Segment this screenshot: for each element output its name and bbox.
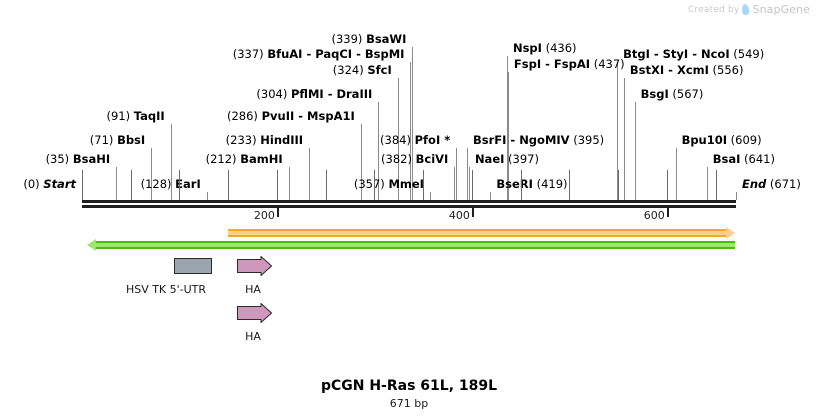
feature-arrow-green-arrow[interactable] [87,241,735,249]
enzyme-position: (337) [233,47,268,61]
ruler-minor-tick [374,170,375,200]
enzyme-position: (128) [141,177,176,191]
snapgene-credit: Created by SnapGene [688,3,810,16]
enzyme-position: (556) [709,63,744,77]
enzyme-name: MspA1I [307,109,355,123]
enzyme-label-bbsi[interactable]: (71) BbsI [90,134,145,147]
enzyme-name: MmeI [388,177,424,191]
enzyme-label-taqii[interactable]: (91) TaqII [107,110,165,123]
pentagon-arrow-icon [237,256,272,276]
enzyme-label-hindiii[interactable]: (233) HindIII [226,134,303,147]
arrow-head [726,227,735,239]
enzyme-position: (641) [740,152,775,166]
enzyme-name: HindIII [260,133,303,147]
enzyme-label-bstxi-xcmi[interactable]: BstXI - XcmI (556) [630,64,744,77]
ruler-minor-tick [423,170,424,200]
enzyme-name: BciVI [416,152,449,166]
ruler-minor-tick [326,170,327,200]
enzyme-leader-line [624,78,625,200]
pentagon-arrow-icon [237,303,272,323]
enzyme-name: Bpu10I [682,133,727,147]
enzyme-name-separator: - [302,47,315,61]
feature-label: HA [245,283,261,296]
enzyme-name: BsgI [641,87,669,101]
enzyme-leader-line [490,192,491,200]
ruler-tick-label: 400 [449,209,470,222]
enzyme-name: Start [43,177,76,191]
ruler-minor-tick [618,170,619,200]
enzyme-name: BsaHI [73,152,110,166]
enzyme-label-btgi-styi-ncoi[interactable]: BtgI - StyI - NcoI (549) [623,48,764,61]
enzyme-label-nspi[interactable]: NspI (436) [513,42,577,55]
ruler-major-tick [667,208,669,217]
enzyme-position: (233) [226,133,261,147]
enzyme-leader-line [707,167,708,200]
ruler-minor-tick [82,170,83,200]
enzyme-name: PvuII [262,109,295,123]
enzyme-position: (549) [730,47,765,61]
enzyme-position: (35) [46,152,73,166]
enzyme-name: TaqII [134,109,165,123]
enzyme-leader-line [467,148,468,200]
enzyme-name: FspAI [554,57,590,71]
enzyme-label-bsahi[interactable]: (35) BsaHI [46,153,111,166]
enzyme-name: BspMI [365,47,405,61]
enzyme-label-bamhi[interactable]: (212) BamHI [206,153,283,166]
enzyme-position: (609) [727,133,762,147]
ruler-minor-tick [716,170,717,200]
enzyme-name: NcoI [701,47,730,61]
enzyme-name-separator: - [650,47,663,61]
ruler-minor-tick [521,170,522,200]
enzyme-name: FspI [514,57,541,71]
enzyme-label-pflmi-draiii[interactable]: (304) PflMI - DraIII [256,88,372,101]
enzyme-label-bsai[interactable]: BsaI (641) [713,153,775,166]
arrow-shaft [96,241,735,249]
enzyme-position: (567) [669,87,704,101]
enzyme-label-start[interactable]: (0) Start [23,178,76,191]
enzyme-label-bseri[interactable]: BseRI (419) [496,178,567,191]
ruler-tick-label: 600 [644,209,665,222]
enzyme-label-pvuii-mspa1i[interactable]: (286) PvuII - MspA1I [227,110,355,123]
enzyme-label-bsawi[interactable]: (339) BsaWI [331,33,406,46]
ruler-minor-tick [569,170,570,200]
enzyme-position: (0) [23,177,43,191]
enzyme-name: PflMI [291,87,324,101]
credit-prefix-label: Created by [688,5,740,15]
enzyme-leader-line [151,148,152,200]
enzyme-label-sfci[interactable]: (324) SfcI [333,64,392,77]
arrow-shaft [228,229,726,237]
enzyme-leader-line [469,167,470,200]
ruler-bar-bottom [82,205,736,208]
enzyme-position: (304) [256,87,291,101]
feature-arrow-orange-arrow[interactable] [228,229,735,237]
enzyme-name: PaqCI [315,47,352,61]
enzyme-label-bpu10i[interactable]: Bpu10I (609) [682,134,762,147]
enzyme-label-eari[interactable]: (128) EarI [141,178,201,191]
plasmid-map-canvas: Created by SnapGene (0) Start(35) BsaHI(… [0,0,818,419]
feature-arrow-ha[interactable] [237,256,272,276]
ruler-bar-top [82,200,736,203]
enzyme-label-bcivi[interactable]: (382) BciVI [381,153,448,166]
enzyme-name-separator: - [324,87,337,101]
enzyme-label-naei[interactable]: NaeI (397) [475,153,539,166]
enzyme-position: (71) [90,133,117,147]
ruler-minor-tick [277,170,278,200]
enzyme-leader-line [207,192,208,200]
enzyme-position: (212) [206,152,241,166]
enzyme-name: BtgI [623,47,650,61]
enzyme-label-bsrfi-ngomiv[interactable]: BsrFI - NgoMIV (395) [473,134,604,147]
enzyme-name: BbsI [117,133,145,147]
enzyme-name: NaeI [475,152,504,166]
enzyme-leader-line [736,192,737,200]
enzyme-name: BamHI [240,152,282,166]
enzyme-name-separator: - [688,47,701,61]
enzyme-name: DraIII [336,87,372,101]
ruler-minor-tick [228,170,229,200]
enzyme-position: (419) [533,177,568,191]
enzyme-label-fspi-fspai[interactable]: FspI - FspAI (437) [514,58,625,71]
enzyme-position: (436) [542,41,577,55]
feature-label: HA [245,330,261,343]
enzyme-position: (437) [590,57,625,71]
ruler-major-tick [277,208,279,217]
ruler-minor-tick [667,170,668,200]
enzyme-position: (397) [504,152,539,166]
ruler-minor-tick [472,170,473,200]
enzyme-name: StyI [663,47,689,61]
enzyme-name: BsaI [713,152,741,166]
ruler-major-tick [472,208,474,217]
enzyme-name-separator: - [664,63,677,77]
snapgene-brand-label: SnapGene [752,3,810,16]
enzyme-position: (91) [107,109,134,123]
enzyme-name: PfoI * [415,133,451,147]
enzyme-leader-line [676,148,677,200]
enzyme-name: NspI [513,41,542,55]
enzyme-position: (384) [380,133,415,147]
enzyme-name: XcmI [677,63,709,77]
ruler-minor-tick [179,170,180,200]
enzyme-position: (382) [381,152,416,166]
enzyme-leader-line [309,148,310,200]
enzyme-name-separator: - [352,47,365,61]
enzyme-name: NgoMIV [519,133,569,147]
enzyme-name: BsaWI [366,32,406,46]
arrow-head [87,239,96,251]
page-subtitle: 671 bp [0,397,818,410]
snapgene-leaf-icon [742,4,750,16]
enzyme-leader-line [289,167,290,200]
enzyme-name: BfuAI [267,47,302,61]
enzyme-name: BstXI [630,63,664,77]
enzyme-leader-line [116,167,117,200]
enzyme-name: End [742,177,766,191]
enzyme-name: BseRI [496,177,533,191]
enzyme-label-end[interactable]: End (671) [742,178,801,191]
feature-box-hsv-tk-5-utr[interactable] [174,258,212,274]
enzyme-position: (395) [570,133,605,147]
ruler-minor-tick [131,170,132,200]
enzyme-name: SfcI [367,63,391,77]
feature-label: HSV TK 5'-UTR [126,283,206,296]
enzyme-name: BsrFI [473,133,506,147]
enzyme-name-separator: - [541,57,554,71]
enzyme-label-mmei[interactable]: (357) MmeI [354,178,424,191]
enzyme-label-pfoi-[interactable]: (384) PfoI * [380,134,450,147]
enzyme-position: (339) [331,32,366,46]
enzyme-label-bfuai-paqci-bspmi[interactable]: (337) BfuAI - PaqCI - BspMI [233,48,405,61]
enzyme-leader-line [430,192,431,200]
enzyme-position: (671) [766,177,801,191]
ruler-tick-label: 200 [254,209,275,222]
enzyme-name-separator: - [294,109,307,123]
page-title: pCGN H-Ras 61L, 189L [0,378,818,394]
feature-arrow-ha[interactable] [237,303,272,323]
enzyme-position: (286) [227,109,262,123]
enzyme-label-bsgi[interactable]: BsgI (567) [641,88,704,101]
enzyme-leader-line [456,148,457,200]
enzyme-leader-line [635,102,636,200]
enzyme-position: (357) [354,177,389,191]
enzyme-position: (324) [333,63,368,77]
enzyme-leader-line [454,167,455,200]
enzyme-name-separator: - [506,133,519,147]
